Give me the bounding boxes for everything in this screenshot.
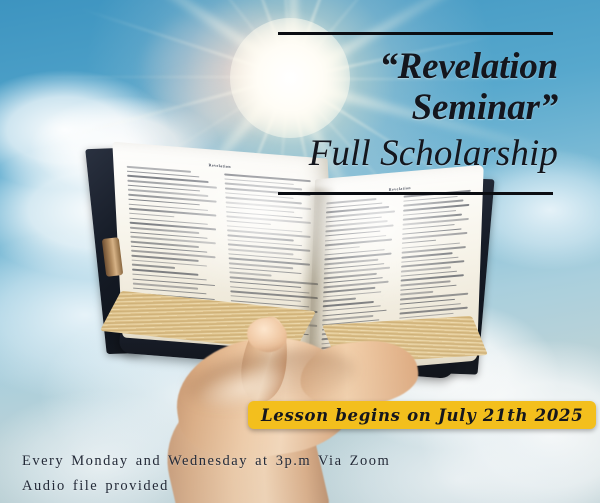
schedule-details: Every Monday and Wednesday at 3p.m Via Z… xyxy=(22,449,390,499)
headline-line-2: Seminar” xyxy=(200,87,558,128)
middle-divider-rule xyxy=(278,192,553,195)
headline-line-1: “Revelation xyxy=(200,46,558,87)
schedule-line-1: Every Monday and Wednesday at 3p.m Via Z… xyxy=(22,449,390,474)
page-title: “Revelation Seminar” xyxy=(200,46,558,128)
poster-canvas: Revelation Revelation “Revelation Semina… xyxy=(0,0,600,503)
schedule-line-2: Audio file provided xyxy=(22,474,390,499)
top-divider-rule xyxy=(278,32,553,35)
start-date-banner-label: Lesson begins on July 21th 2025 xyxy=(261,406,583,425)
page-subtitle: Full Scholarship xyxy=(180,134,558,174)
start-date-banner: Lesson begins on July 21th 2025 xyxy=(248,401,596,429)
